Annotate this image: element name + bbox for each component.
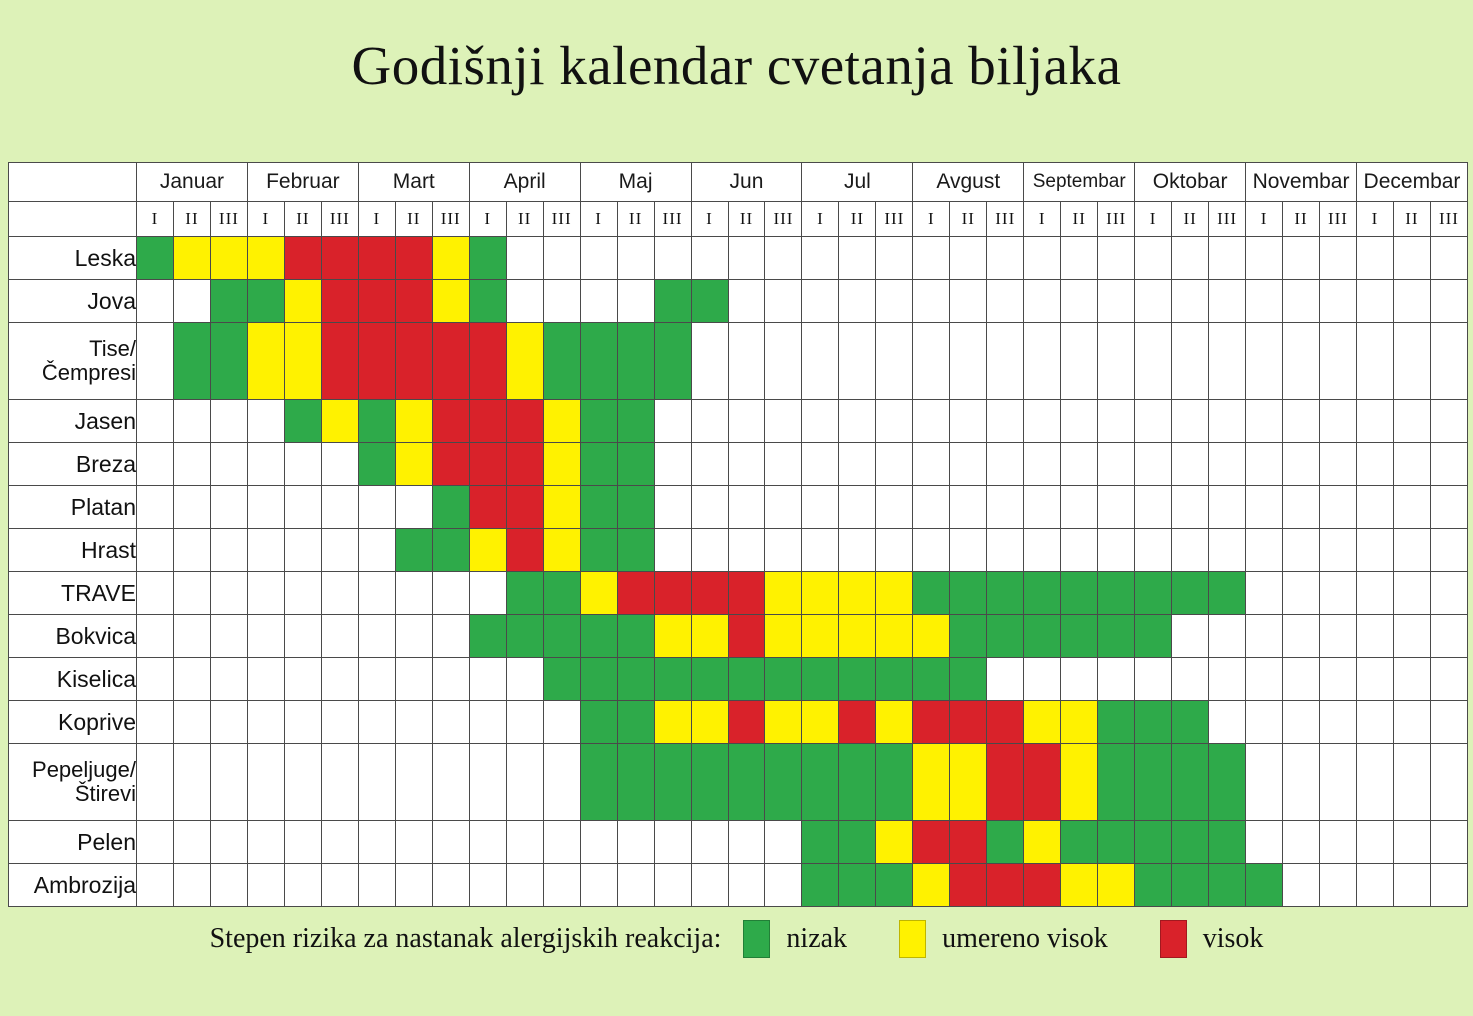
risk-cell [432, 400, 469, 443]
risk-cell [765, 280, 802, 323]
risk-cell [358, 280, 395, 323]
risk-cell [765, 572, 802, 615]
risk-cell [950, 237, 987, 280]
risk-cell [137, 821, 174, 864]
risk-cell [1430, 400, 1467, 443]
decade-header-35: II [1393, 202, 1430, 237]
plant-label-12: Pelen [9, 821, 137, 864]
month-header-mart: Mart [358, 163, 469, 202]
risk-cell [1283, 658, 1320, 701]
risk-cell [1024, 529, 1061, 572]
risk-cell [580, 400, 617, 443]
risk-cell [876, 744, 913, 821]
risk-cell [284, 443, 321, 486]
risk-cell [654, 486, 691, 529]
risk-cell [1320, 323, 1357, 400]
risk-cell [580, 529, 617, 572]
risk-cell [210, 864, 247, 907]
risk-cell [432, 615, 469, 658]
risk-cell [802, 400, 839, 443]
risk-cell [839, 443, 876, 486]
risk-cell [913, 864, 950, 907]
decade-header-26: II [1061, 202, 1098, 237]
plant-label-0: Leska [9, 237, 137, 280]
risk-cell [839, 280, 876, 323]
risk-cell [543, 658, 580, 701]
risk-cell [1098, 486, 1135, 529]
risk-cell [543, 615, 580, 658]
risk-cell [1430, 280, 1467, 323]
risk-cell [284, 323, 321, 400]
risk-cell [1172, 486, 1209, 529]
risk-cell [469, 443, 506, 486]
risk-cell [654, 572, 691, 615]
risk-cell [1320, 237, 1357, 280]
risk-cell [321, 821, 358, 864]
risk-cell [913, 443, 950, 486]
decade-header-9: III [432, 202, 469, 237]
risk-cell [395, 280, 432, 323]
risk-cell [950, 658, 987, 701]
risk-cell [1061, 744, 1098, 821]
risk-cell [691, 572, 728, 615]
decade-header-25: I [1024, 202, 1061, 237]
risk-cell [691, 237, 728, 280]
risk-cell [1061, 486, 1098, 529]
risk-cell [802, 237, 839, 280]
risk-cell [321, 864, 358, 907]
risk-cell [617, 572, 654, 615]
plant-label-5: Platan [9, 486, 137, 529]
risk-cell [987, 280, 1024, 323]
risk-cell [432, 744, 469, 821]
risk-cell [580, 323, 617, 400]
decade-header-34: I [1356, 202, 1393, 237]
risk-cell [210, 744, 247, 821]
decade-header-23: II [950, 202, 987, 237]
risk-cell [1098, 323, 1135, 400]
decade-header-6: III [321, 202, 358, 237]
risk-cell [950, 400, 987, 443]
risk-cell [247, 486, 284, 529]
risk-cell [1246, 744, 1283, 821]
risk-cell [1172, 572, 1209, 615]
risk-cell [654, 864, 691, 907]
month-header-jul: Jul [802, 163, 913, 202]
risk-cell [1172, 615, 1209, 658]
risk-cell [321, 237, 358, 280]
risk-cell [839, 323, 876, 400]
risk-cell [802, 744, 839, 821]
risk-cell [1246, 323, 1283, 400]
risk-cell [358, 615, 395, 658]
risk-cell [1356, 280, 1393, 323]
risk-cell [506, 864, 543, 907]
risk-cell [469, 486, 506, 529]
risk-cell [432, 864, 469, 907]
risk-cell [691, 323, 728, 400]
risk-cell [1356, 864, 1393, 907]
risk-cell [1320, 864, 1357, 907]
risk-cell [358, 821, 395, 864]
risk-cell [802, 701, 839, 744]
risk-cell [765, 486, 802, 529]
risk-cell [506, 486, 543, 529]
decade-header-12: III [543, 202, 580, 237]
risk-cell [506, 744, 543, 821]
risk-cell [913, 821, 950, 864]
risk-cell [1393, 529, 1430, 572]
risk-cell [765, 529, 802, 572]
risk-cell [432, 443, 469, 486]
legend-swatch-icon [899, 920, 926, 958]
risk-cell [987, 572, 1024, 615]
risk-cell [506, 280, 543, 323]
risk-cell [1172, 443, 1209, 486]
risk-cell [1283, 237, 1320, 280]
risk-cell [728, 744, 765, 821]
risk-cell [802, 486, 839, 529]
decade-header-29: II [1172, 202, 1209, 237]
risk-cell [506, 323, 543, 400]
risk-cell [1024, 744, 1061, 821]
risk-cell [876, 443, 913, 486]
risk-cell [137, 323, 174, 400]
risk-cell [580, 744, 617, 821]
risk-cell [1098, 443, 1135, 486]
risk-cell [395, 486, 432, 529]
risk-cell [728, 443, 765, 486]
risk-cell [284, 864, 321, 907]
legend-label: visok [1203, 923, 1264, 955]
risk-cell [1024, 572, 1061, 615]
table-row: Jova [9, 280, 1468, 323]
risk-cell [580, 864, 617, 907]
risk-cell [137, 615, 174, 658]
risk-cell [543, 400, 580, 443]
risk-cell [1024, 443, 1061, 486]
risk-cell [247, 323, 284, 400]
risk-cell [1393, 744, 1430, 821]
risk-cell [1393, 572, 1430, 615]
risk-cell [173, 237, 210, 280]
risk-cell [247, 701, 284, 744]
risk-cell [839, 701, 876, 744]
risk-cell [876, 615, 913, 658]
risk-cell [1024, 615, 1061, 658]
decade-header-14: II [617, 202, 654, 237]
risk-cell [1356, 615, 1393, 658]
risk-cell [617, 280, 654, 323]
risk-cell [1393, 400, 1430, 443]
decade-header-17: II [728, 202, 765, 237]
risk-cell [543, 821, 580, 864]
risk-cell [1356, 323, 1393, 400]
risk-cell [1098, 572, 1135, 615]
risk-cell [728, 572, 765, 615]
risk-cell [358, 323, 395, 400]
risk-cell [395, 864, 432, 907]
risk-cell [506, 237, 543, 280]
risk-cell [1246, 237, 1283, 280]
table-row: Kiselica [9, 658, 1468, 701]
risk-cell [691, 400, 728, 443]
decade-header-32: II [1283, 202, 1320, 237]
risk-cell [950, 323, 987, 400]
risk-cell [580, 658, 617, 701]
risk-cell [1320, 658, 1357, 701]
risk-cell [210, 323, 247, 400]
risk-cell [210, 701, 247, 744]
risk-cell [1209, 443, 1246, 486]
risk-cell [1172, 701, 1209, 744]
risk-cell [210, 529, 247, 572]
risk-cell [1356, 744, 1393, 821]
risk-cell [1061, 701, 1098, 744]
risk-cell [506, 701, 543, 744]
risk-cell [247, 237, 284, 280]
decade-header-22: I [913, 202, 950, 237]
risk-cell [173, 280, 210, 323]
risk-cell [432, 323, 469, 400]
risk-cell [1135, 443, 1172, 486]
risk-cell [1283, 821, 1320, 864]
risk-cell [654, 529, 691, 572]
plant-label-1: Jova [9, 280, 137, 323]
risk-cell [617, 744, 654, 821]
risk-cell [1393, 821, 1430, 864]
risk-cell [1135, 572, 1172, 615]
legend-swatch-icon [1160, 920, 1187, 958]
legend-swatch-icon [743, 920, 770, 958]
risk-cell [617, 701, 654, 744]
risk-cell [1209, 323, 1246, 400]
risk-cell [1356, 658, 1393, 701]
risk-cell [654, 443, 691, 486]
risk-cell [469, 572, 506, 615]
risk-cell [321, 280, 358, 323]
risk-cell [1098, 864, 1135, 907]
risk-cell [543, 572, 580, 615]
risk-cell [1172, 280, 1209, 323]
risk-cell [617, 864, 654, 907]
risk-cell [802, 658, 839, 701]
risk-cell [395, 400, 432, 443]
risk-cell [728, 323, 765, 400]
risk-cell [876, 864, 913, 907]
risk-cell [913, 529, 950, 572]
legend-item-nizak: nizak [743, 920, 847, 958]
risk-cell [580, 572, 617, 615]
risk-cell [691, 615, 728, 658]
risk-cell [1283, 400, 1320, 443]
risk-cell [1393, 486, 1430, 529]
table-corner-cell [9, 163, 137, 202]
month-header-oktobar: Oktobar [1135, 163, 1246, 202]
risk-cell [1246, 572, 1283, 615]
risk-cell [1061, 572, 1098, 615]
risk-cell [1209, 701, 1246, 744]
table-row: Leska [9, 237, 1468, 280]
risk-cell [432, 237, 469, 280]
risk-cell [617, 400, 654, 443]
risk-cell [173, 615, 210, 658]
decade-header-24: III [987, 202, 1024, 237]
risk-cell [913, 237, 950, 280]
risk-cell [1098, 615, 1135, 658]
risk-cell [987, 400, 1024, 443]
risk-cell [1172, 821, 1209, 864]
risk-cell [1024, 701, 1061, 744]
risk-cell [321, 701, 358, 744]
risk-cell [173, 864, 210, 907]
risk-cell [543, 443, 580, 486]
risk-cell [543, 864, 580, 907]
risk-cell [432, 486, 469, 529]
risk-cell [1172, 744, 1209, 821]
risk-cell [1098, 400, 1135, 443]
risk-cell [432, 701, 469, 744]
decade-header-28: I [1135, 202, 1172, 237]
risk-cell [876, 400, 913, 443]
decade-header-row: IIIIIIIIIIIIIIIIIIIIIIIIIIIIIIIIIIIIIIII… [9, 202, 1468, 237]
risk-cell [728, 529, 765, 572]
table-row: Ambrozija [9, 864, 1468, 907]
risk-cell [1283, 323, 1320, 400]
decade-header-8: II [395, 202, 432, 237]
risk-cell [1246, 443, 1283, 486]
risk-cell [210, 572, 247, 615]
risk-cell [469, 280, 506, 323]
risk-cell [137, 658, 174, 701]
decade-header-13: I [580, 202, 617, 237]
risk-cell [247, 280, 284, 323]
risk-cell [950, 864, 987, 907]
risk-cell [395, 529, 432, 572]
risk-cell [950, 443, 987, 486]
risk-cell [1098, 237, 1135, 280]
risk-cell [1356, 443, 1393, 486]
risk-cell [321, 744, 358, 821]
risk-cell [1098, 744, 1135, 821]
risk-cell [691, 280, 728, 323]
risk-cell [432, 658, 469, 701]
table-row: Koprive [9, 701, 1468, 744]
risk-cell [1393, 323, 1430, 400]
risk-cell [1135, 323, 1172, 400]
risk-cell [321, 486, 358, 529]
risk-cell [1393, 864, 1430, 907]
decade-header-31: I [1246, 202, 1283, 237]
risk-cell [358, 486, 395, 529]
risk-cell [1283, 572, 1320, 615]
risk-cell [913, 658, 950, 701]
risk-cell [1320, 443, 1357, 486]
risk-cell [876, 529, 913, 572]
risk-cell [173, 400, 210, 443]
risk-cell [1135, 486, 1172, 529]
risk-cell [617, 821, 654, 864]
risk-cell [1098, 701, 1135, 744]
risk-cell [802, 443, 839, 486]
risk-cell [728, 237, 765, 280]
plant-label-8: Bokvica [9, 615, 137, 658]
risk-cell [1356, 486, 1393, 529]
risk-cell [173, 744, 210, 821]
risk-cell [913, 280, 950, 323]
risk-cell [1430, 615, 1467, 658]
plant-label-2: Tise/Čempresi [9, 323, 137, 400]
risk-cell [1135, 615, 1172, 658]
risk-cell [173, 443, 210, 486]
risk-cell [321, 572, 358, 615]
risk-cell [617, 237, 654, 280]
decade-header-1: I [137, 202, 174, 237]
risk-cell [728, 864, 765, 907]
risk-cell [137, 701, 174, 744]
risk-cell [358, 400, 395, 443]
risk-cell [1061, 615, 1098, 658]
risk-cell [876, 701, 913, 744]
decade-header-11: II [506, 202, 543, 237]
plant-label-13: Ambrozija [9, 864, 137, 907]
risk-cell [1172, 529, 1209, 572]
risk-cell [1098, 280, 1135, 323]
risk-cell [247, 864, 284, 907]
risk-cell [728, 701, 765, 744]
pollen-calendar-table: JanuarFebruarMartAprilMajJunJulAvgustSep… [8, 162, 1468, 907]
risk-cell [358, 864, 395, 907]
risk-cell [691, 486, 728, 529]
month-header-septembar: Septembar [1024, 163, 1135, 202]
month-header-jun: Jun [691, 163, 802, 202]
risk-cell [987, 323, 1024, 400]
plant-label-6: Hrast [9, 529, 137, 572]
risk-cell [728, 658, 765, 701]
risk-cell [1024, 864, 1061, 907]
risk-cell [617, 323, 654, 400]
calendar-body: LeskaJovaTise/ČempresiJasenBrezaPlatanHr… [9, 237, 1468, 907]
risk-cell [765, 443, 802, 486]
risk-cell [210, 658, 247, 701]
plant-label-3: Jasen [9, 400, 137, 443]
risk-cell [543, 529, 580, 572]
risk-cell [913, 615, 950, 658]
risk-cell [802, 572, 839, 615]
risk-cell [469, 658, 506, 701]
risk-cell [802, 280, 839, 323]
risk-cell [432, 529, 469, 572]
risk-cell [1024, 323, 1061, 400]
risk-cell [1393, 615, 1430, 658]
risk-cell [654, 744, 691, 821]
risk-cell [506, 658, 543, 701]
risk-cell [1061, 323, 1098, 400]
risk-cell [987, 237, 1024, 280]
risk-cell [137, 572, 174, 615]
risk-cell [987, 615, 1024, 658]
risk-cell [950, 529, 987, 572]
risk-cell [137, 400, 174, 443]
risk-cell [173, 486, 210, 529]
risk-cell [839, 400, 876, 443]
risk-cell [395, 572, 432, 615]
risk-cell [469, 615, 506, 658]
risk-cell [987, 744, 1024, 821]
risk-cell [543, 744, 580, 821]
decade-header-3: III [210, 202, 247, 237]
risk-cell [284, 658, 321, 701]
